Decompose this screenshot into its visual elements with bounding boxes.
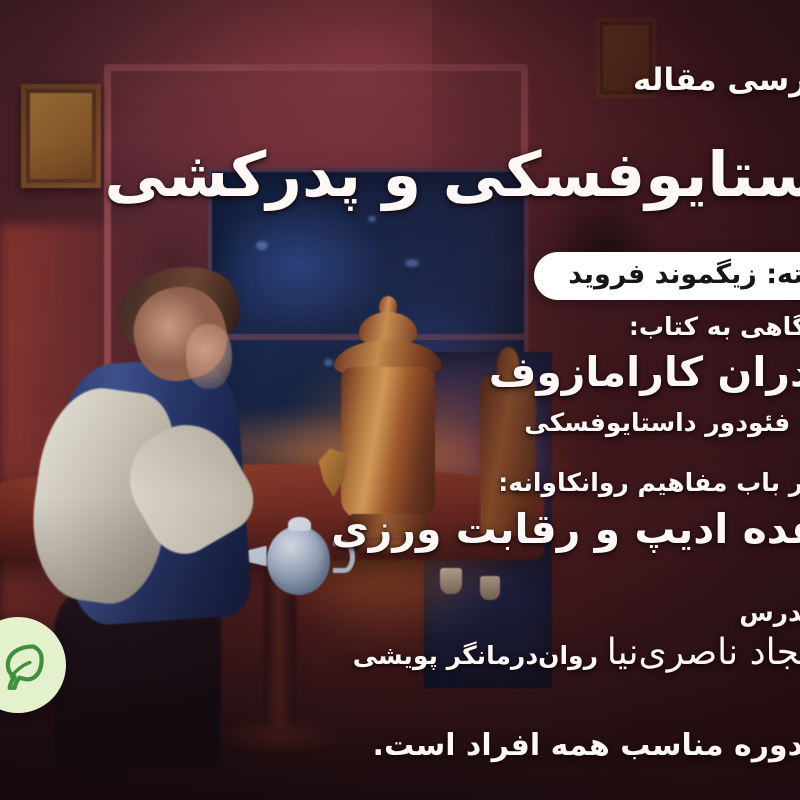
author-badge: نوشته: زیگموند فروید — [534, 252, 800, 300]
book-section-label: نگاهی به کتاب: — [629, 312, 800, 341]
footer-note: این دوره مناسب همه افراد است. — [373, 728, 800, 763]
kicker-text: بررسی مقاله — [633, 62, 800, 98]
page-title: داستایوفسکی و پدرکشی — [104, 138, 800, 211]
book-title: برادران کارامازوف — [489, 348, 800, 396]
book-author: نوشته فئودور داستایوفسکی — [524, 408, 800, 437]
leaf-logo — [0, 617, 66, 713]
teacher-line: سجاد ناصری‌نیا روان‌درمانگر پویشی — [353, 632, 800, 673]
leaf-icon — [0, 638, 45, 692]
concepts-title: عقده ادیپ و رقابت ورزی — [331, 505, 800, 553]
course-poster: بررسی مقاله داستایوفسکی و پدرکشی نوشته: … — [0, 0, 800, 800]
poster-text-layer: بررسی مقاله داستایوفسکی و پدرکشی نوشته: … — [0, 0, 800, 800]
teacher-section-label: مدرس — [739, 598, 800, 627]
teacher-name: سجاد ناصری‌نیا — [607, 632, 800, 673]
teacher-role: روان‌درمانگر پویشی — [353, 641, 607, 670]
concepts-section-label: در باب مفاهیم روانکاوانه: — [498, 468, 800, 497]
